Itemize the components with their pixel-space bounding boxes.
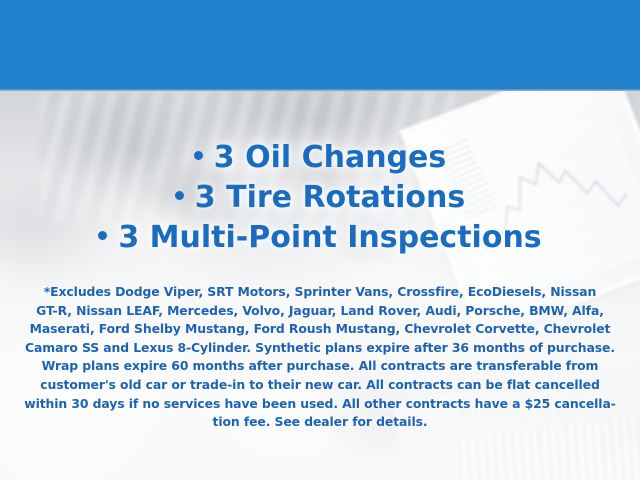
disclaimer-line: within 30 days if no services have been … bbox=[22, 395, 618, 414]
list-item: 3 Tire Rotations bbox=[0, 178, 640, 218]
header-banner-edge bbox=[0, 88, 640, 91]
disclaimer-line: GT-R, Nissan LEAF, Mercedes, Volvo, Jagu… bbox=[22, 302, 618, 321]
bullet-dot-icon bbox=[194, 151, 203, 160]
disclaimer-line: Maserati, Ford Shelby Mustang, Ford Rous… bbox=[22, 320, 618, 339]
disclaimer-line: Wrap plans expire 60 months after purcha… bbox=[22, 357, 618, 376]
list-item: 3 Oil Changes bbox=[0, 138, 640, 178]
bullet-dot-icon bbox=[98, 231, 107, 240]
list-item-label: 3 Tire Rotations bbox=[195, 180, 465, 215]
disclaimer-line: Camaro SS and Lexus 8-Cylinder. Syntheti… bbox=[22, 339, 618, 358]
disclaimer-line: customer's old car or trade-in to their … bbox=[22, 376, 618, 395]
list-item: 3 Multi-Point Inspections bbox=[0, 218, 640, 258]
disclaimer-line: tion fee. See dealer for details. bbox=[22, 413, 618, 432]
list-item-label: 3 Oil Changes bbox=[214, 140, 447, 175]
disclaimer-line: *Excludes Dodge Viper, SRT Motors, Sprin… bbox=[22, 283, 618, 302]
disclaimer-text: *Excludes Dodge Viper, SRT Motors, Sprin… bbox=[22, 283, 618, 432]
extracare-package-poster: ExtraCare Package* 3 Oil Changes 3 Tire … bbox=[0, 0, 640, 480]
list-item-label: 3 Multi-Point Inspections bbox=[118, 220, 541, 255]
benefits-list: 3 Oil Changes 3 Tire Rotations 3 Multi-P… bbox=[0, 138, 640, 258]
bullet-dot-icon bbox=[175, 191, 184, 200]
header-banner bbox=[0, 0, 640, 88]
